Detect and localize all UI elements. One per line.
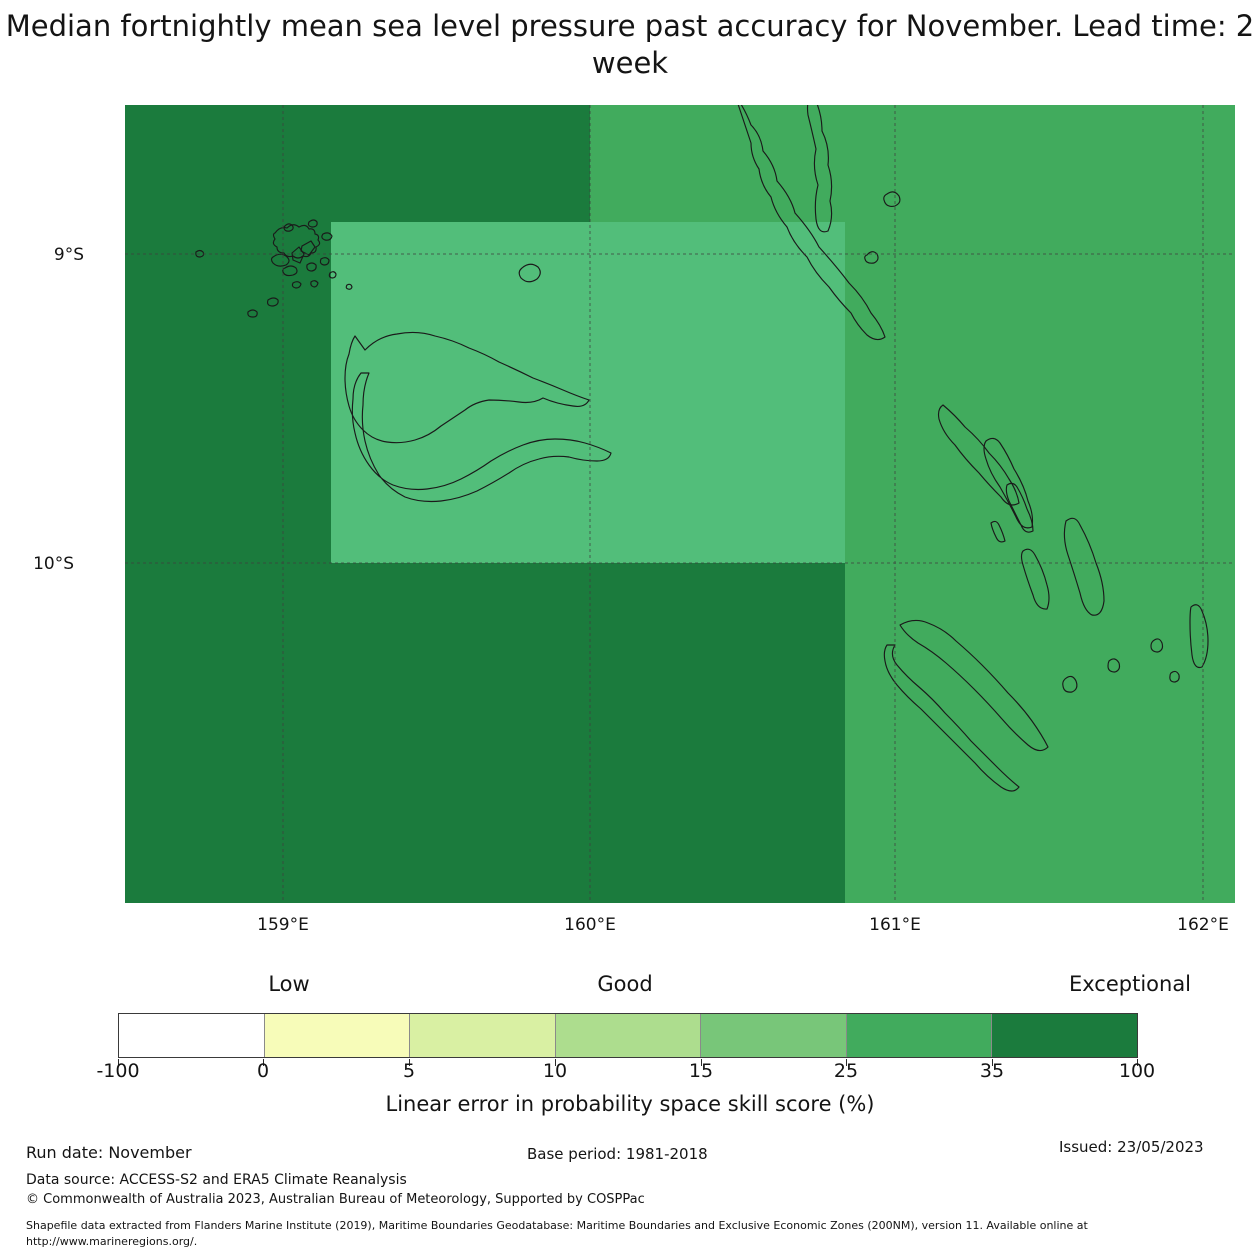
x-tick-label-159E: 159°E [223, 915, 343, 935]
map-plot-area[interactable] [125, 105, 1235, 903]
colorbar-tick-label-6: 35 [932, 1060, 1052, 1082]
x-tick-label-162E: 162°E [1143, 915, 1260, 935]
footer-attribution: Shapefile data extracted from Flanders M… [26, 1218, 1226, 1250]
x-tick-label-161E: 161°E [835, 915, 955, 935]
footer-issued-date: Issued: 23/05/2023 [1059, 1138, 1204, 1156]
colorbar-segment-0[interactable] [119, 1014, 265, 1057]
colorbar-segment-5[interactable] [847, 1014, 993, 1057]
colorbar-axis-label: Linear error in probability space skill … [0, 1092, 1260, 1116]
footer-run-date: Run date: November [26, 1143, 192, 1162]
footer-copyright: © Commonwealth of Australia 2023, Austra… [26, 1192, 645, 1207]
x-tick-label-160E: 160°E [530, 915, 650, 935]
y-tick-label-9S: 9°S [14, 245, 84, 265]
colorbar-segment-6[interactable] [992, 1014, 1137, 1057]
footer-base-period: Base period: 1981-2018 [527, 1145, 708, 1163]
colorbar-tick-label-2: 5 [349, 1060, 469, 1082]
colorbar-tick-label-7: 100 [1077, 1060, 1197, 1082]
page-title: Median fortnightly mean sea level pressu… [0, 8, 1260, 82]
colorbar-tick-label-4: 15 [641, 1060, 761, 1082]
colorbar-tick-label-3: 10 [495, 1060, 615, 1082]
colorbar-category-low: Low [159, 972, 419, 996]
colorbar-tick-label-0: -100 [58, 1060, 178, 1082]
colorbar-bar[interactable] [118, 1013, 1138, 1058]
colorbar-segment-4[interactable] [701, 1014, 847, 1057]
colorbar[interactable] [118, 1013, 1138, 1058]
y-tick-label-10S: 10°S [4, 554, 74, 574]
colorbar-segment-1[interactable] [265, 1014, 411, 1057]
colorbar-tick-label-1: 0 [203, 1060, 323, 1082]
colorbar-category-good: Good [495, 972, 755, 996]
footer-data-source: Data source: ACCESS-S2 and ERA5 Climate … [26, 1172, 407, 1188]
colorbar-segment-2[interactable] [410, 1014, 556, 1057]
colorbar-category-exceptional: Exceptional [1000, 972, 1260, 996]
map-raster [125, 105, 1235, 903]
colorbar-segment-3[interactable] [556, 1014, 702, 1057]
colorbar-tick-label-5: 25 [786, 1060, 906, 1082]
